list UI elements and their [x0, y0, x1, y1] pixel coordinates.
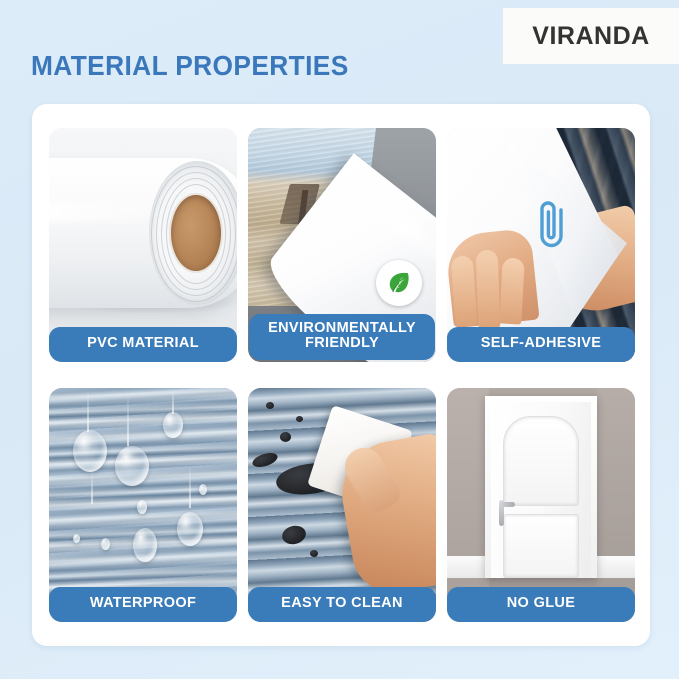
infographic-page: VIRANDA MATERIAL PROPERTIES: [0, 0, 679, 679]
feature-label-waterproof: WATERPROOF: [49, 587, 237, 622]
door-frame: [485, 396, 597, 578]
water-droplet: [101, 538, 110, 550]
feature-label-easy-to-clean: EASY TO CLEAN: [248, 587, 436, 622]
feature-card-waterproof[interactable]: WATERPROOF: [49, 388, 237, 622]
stain-spot: [280, 432, 291, 442]
water-droplet: [137, 500, 147, 514]
feature-label-pvc-material: PVC MATERIAL: [49, 327, 237, 362]
water-droplet: [163, 412, 183, 438]
feature-card-environmentally-friendly[interactable]: ENVIRONMENTALLY FRIENDLY: [248, 128, 436, 362]
water-droplet: [73, 534, 80, 543]
feature-card-no-glue[interactable]: NO GLUE: [447, 388, 635, 622]
features-panel: PVC MATERIAL: [32, 104, 650, 646]
feature-card-self-adhesive[interactable]: SELF-ADHESIVE: [447, 128, 635, 362]
feature-label-line-1: ENVIRONMENTALLY: [253, 321, 431, 337]
pvc-roll-shape: [49, 158, 237, 308]
feature-label-line-2: FRIENDLY: [253, 336, 431, 352]
stain-spot: [296, 416, 303, 422]
stain-spot: [310, 550, 318, 557]
feature-label-self-adhesive: SELF-ADHESIVE: [447, 327, 635, 362]
page-title: MATERIAL PROPERTIES: [31, 50, 349, 82]
feature-label-environmentally-friendly: ENVIRONMENTALLY FRIENDLY: [249, 314, 435, 360]
brand-name: VIRANDA: [532, 22, 649, 51]
water-droplet: [133, 528, 157, 562]
feature-label-no-glue: NO GLUE: [447, 587, 635, 622]
stain-spot: [266, 402, 274, 409]
water-droplet: [177, 512, 203, 546]
pvc-cardboard-core: [171, 195, 221, 271]
door-slab: [491, 402, 591, 578]
brand-badge: VIRANDA: [503, 8, 679, 64]
water-droplet: [73, 430, 107, 472]
water-droplet: [115, 446, 149, 486]
features-grid: PVC MATERIAL: [49, 128, 633, 622]
feature-card-easy-to-clean[interactable]: EASY TO CLEAN: [248, 388, 436, 622]
feature-card-pvc-material[interactable]: PVC MATERIAL: [49, 128, 237, 362]
eco-badge: [376, 260, 422, 306]
leaf-icon: [384, 268, 414, 298]
water-droplet: [199, 484, 207, 495]
paperclip-icon-wrap: [531, 198, 575, 254]
paperclip-icon: [531, 198, 575, 254]
